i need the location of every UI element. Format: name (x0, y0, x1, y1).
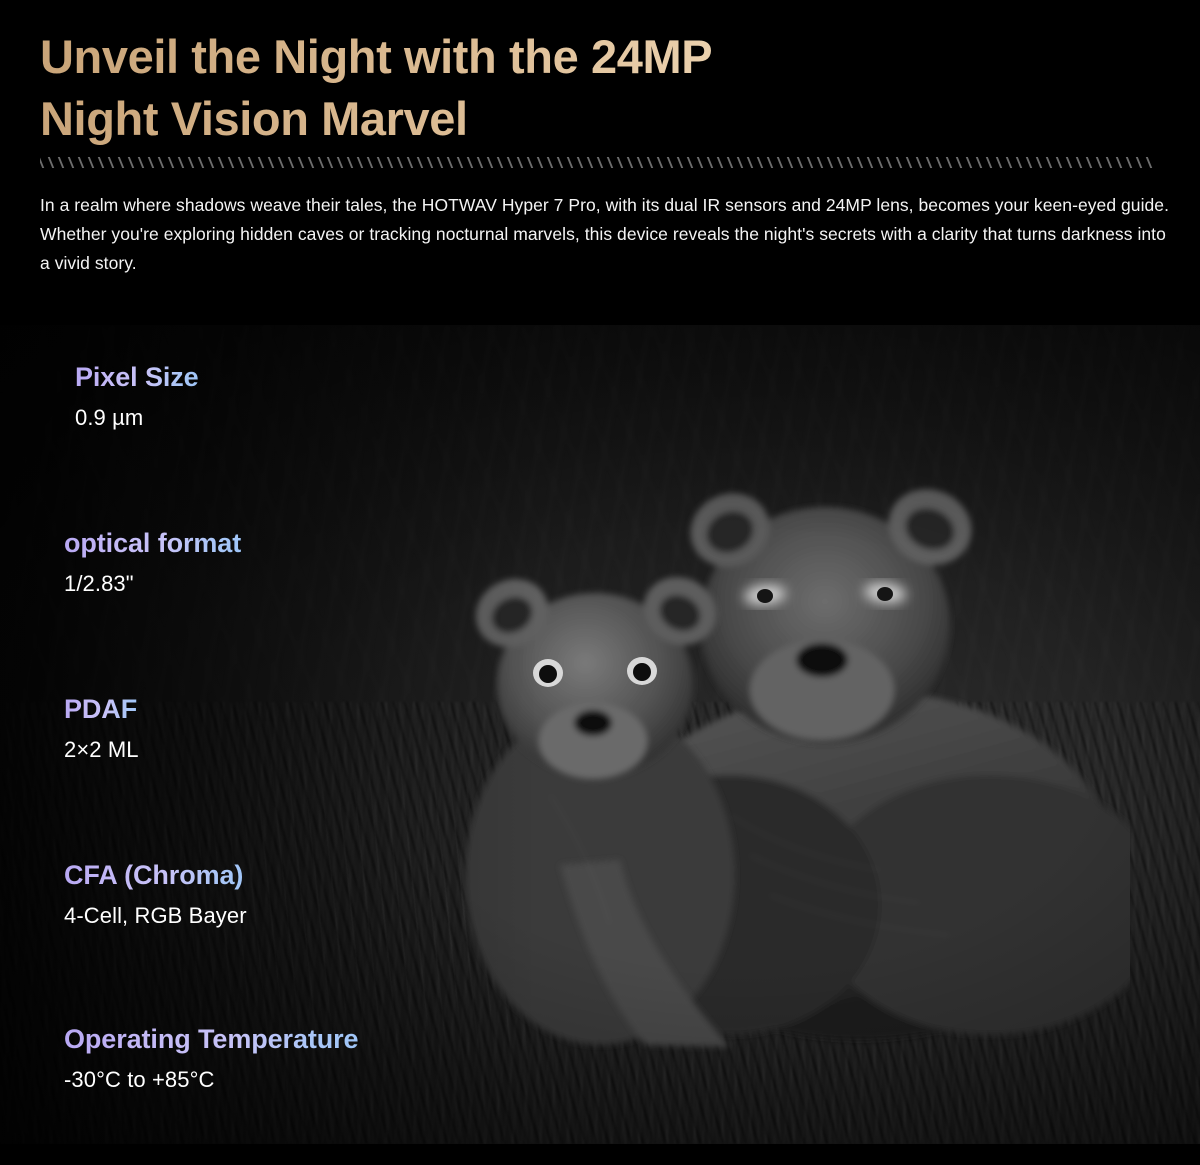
divider-tick (507, 157, 513, 168)
divider-tick (377, 157, 383, 168)
spec-label: Operating Temperature (64, 1023, 358, 1055)
divider-tick (746, 157, 752, 168)
divider-tick (756, 157, 762, 168)
divider-tick (826, 157, 832, 168)
divider-tick (307, 157, 313, 168)
spec-value: 1/2.83" (64, 570, 241, 598)
divider-tick (317, 157, 323, 168)
lion-photograph (0, 325, 1200, 1144)
spec-item-pdaf: PDAF 2×2 ML (64, 693, 139, 764)
divider-tick (727, 157, 733, 168)
divider-tick (597, 157, 603, 168)
divider-tick (717, 157, 723, 168)
divider-tick (287, 157, 293, 168)
spec-value: -30°C to +85°C (64, 1066, 358, 1094)
page-title: Unveil the Night with the 24MP Night Vis… (40, 26, 1160, 150)
divider-tick (477, 157, 483, 168)
divider-tick (337, 157, 343, 168)
divider-tick (806, 157, 812, 168)
divider-tick (776, 157, 782, 168)
divider-tick (707, 157, 713, 168)
divider-tick (58, 157, 64, 168)
divider-tick (1016, 157, 1022, 168)
divider-tick (247, 157, 253, 168)
divider-tick (237, 157, 243, 168)
divider-tick (1026, 157, 1032, 168)
divider-tick (986, 157, 992, 168)
divider-tick (607, 157, 613, 168)
divider-tick (227, 157, 233, 168)
divider-tick (1006, 157, 1012, 168)
divider-tick (88, 157, 94, 168)
divider-tick (178, 157, 184, 168)
divider-tick (936, 157, 942, 168)
divider-tick (118, 157, 124, 168)
divider-tick (547, 157, 553, 168)
divider-tick (537, 157, 543, 168)
divider-tick (48, 157, 54, 168)
divider-tick (357, 157, 363, 168)
divider-tick (1116, 157, 1122, 168)
divider-tick (517, 157, 523, 168)
divider-tick (168, 157, 174, 168)
divider-tick (68, 157, 74, 168)
divider-tick (78, 157, 84, 168)
divider-tick (996, 157, 1002, 168)
divider-tick (816, 157, 822, 168)
divider-tick (577, 157, 583, 168)
divider-tick (467, 157, 473, 168)
product-feature-page: Unveil the Night with the 24MP Night Vis… (0, 0, 1200, 1165)
photo-spec-section: Pixel Size 0.9 µm optical format 1/2.83"… (0, 325, 1200, 1144)
spec-value: 0.9 µm (75, 404, 199, 432)
divider-tick (906, 157, 912, 168)
divider-tick (487, 157, 493, 168)
spec-label: Pixel Size (75, 361, 199, 393)
divider-tick (687, 157, 693, 168)
header-section: Unveil the Night with the 24MP Night Vis… (0, 0, 1200, 325)
divider-tick (846, 157, 852, 168)
divider-tick (40, 157, 44, 168)
divider-tick (108, 157, 114, 168)
divider-tick (1126, 157, 1132, 168)
divider-tick (1036, 157, 1042, 168)
divider-tick (197, 157, 203, 168)
divider-tick (327, 157, 333, 168)
divider-tick (697, 157, 703, 168)
footer-strip (0, 1144, 1200, 1165)
divider-tick (876, 157, 882, 168)
spec-label: optical format (64, 527, 241, 559)
divider-tick (257, 157, 263, 168)
divider-tick (886, 157, 892, 168)
divider-tick (437, 157, 443, 168)
divider-tick (786, 157, 792, 168)
divider-tick (217, 157, 223, 168)
divider-tick (407, 157, 413, 168)
divider-tick (587, 157, 593, 168)
divider-tick (796, 157, 802, 168)
divider-tick (158, 157, 164, 168)
divider-tick (187, 157, 193, 168)
divider-tick (657, 157, 663, 168)
divider-tick (766, 157, 772, 168)
divider-tick (677, 157, 683, 168)
divider-tick (138, 157, 144, 168)
divider-tick (1106, 157, 1112, 168)
divider-tick (637, 157, 643, 168)
divider-tick (1086, 157, 1092, 168)
divider-tick (627, 157, 633, 168)
divider-tick (277, 157, 283, 168)
spec-item-pixel-size: Pixel Size 0.9 µm (75, 361, 199, 432)
divider-tick (1136, 157, 1142, 168)
divider-tick (856, 157, 862, 168)
divider-tick (1056, 157, 1062, 168)
intro-paragraph: In a realm where shadows weave their tal… (40, 191, 1175, 278)
divider-tick (347, 157, 353, 168)
divider-tick (1146, 157, 1152, 168)
decorative-tick-divider (40, 156, 1158, 169)
divider-tick (297, 157, 303, 168)
divider-tick (1096, 157, 1102, 168)
divider-tick (397, 157, 403, 168)
spec-value: 2×2 ML (64, 736, 139, 764)
lioness-and-cub-subject (430, 435, 1130, 1075)
divider-tick (617, 157, 623, 168)
divider-tick (836, 157, 842, 168)
divider-tick (447, 157, 453, 168)
divider-tick (267, 157, 273, 168)
divider-tick (647, 157, 653, 168)
divider-tick (527, 157, 533, 168)
spec-item-optical-format: optical format 1/2.83" (64, 527, 241, 598)
divider-tick (367, 157, 373, 168)
divider-tick (956, 157, 962, 168)
spec-label: CFA (Chroma) (64, 859, 247, 891)
divider-tick (1076, 157, 1082, 168)
divider-tick (497, 157, 503, 168)
divider-tick (427, 157, 433, 168)
divider-tick (926, 157, 932, 168)
divider-tick (866, 157, 872, 168)
spec-item-operating-temperature: Operating Temperature -30°C to +85°C (64, 1023, 358, 1094)
divider-tick (128, 157, 134, 168)
divider-tick (976, 157, 982, 168)
divider-tick (148, 157, 154, 168)
divider-tick (966, 157, 972, 168)
spec-value: 4-Cell, RGB Bayer (64, 902, 247, 930)
spec-list: Pixel Size 0.9 µm optical format 1/2.83"… (0, 325, 560, 351)
divider-tick (457, 157, 463, 168)
divider-tick (417, 157, 423, 168)
divider-tick (667, 157, 673, 168)
spec-label: PDAF (64, 693, 139, 725)
divider-tick (1066, 157, 1072, 168)
divider-tick (946, 157, 952, 168)
divider-tick (1046, 157, 1052, 168)
divider-tick (737, 157, 743, 168)
divider-tick (567, 157, 573, 168)
divider-tick (896, 157, 902, 168)
spec-item-cfa-chroma: CFA (Chroma) 4-Cell, RGB Bayer (64, 859, 247, 930)
divider-tick (98, 157, 104, 168)
divider-tick (387, 157, 393, 168)
divider-tick (916, 157, 922, 168)
divider-tick (557, 157, 563, 168)
divider-tick (207, 157, 213, 168)
